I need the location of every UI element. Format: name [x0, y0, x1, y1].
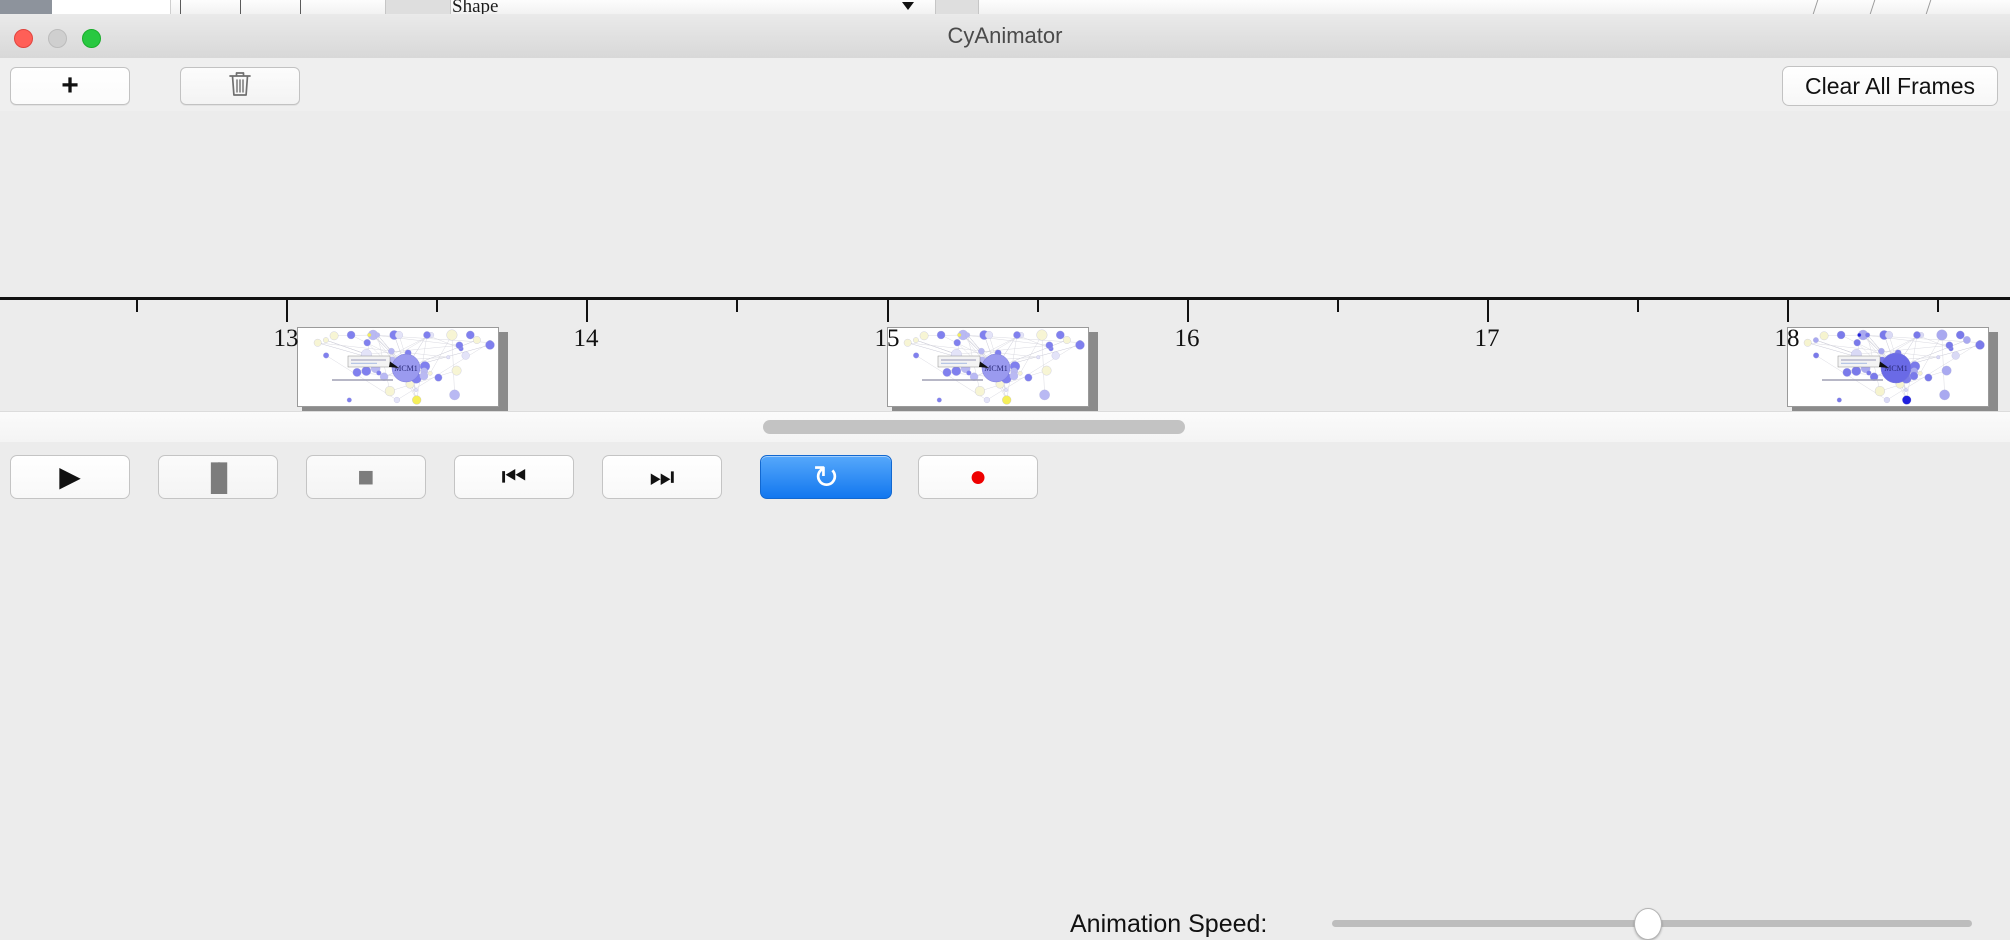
animation-speed-slider-thumb[interactable]: [1634, 908, 1662, 940]
background-label-shape: Shape: [452, 0, 498, 15]
animation-speed-label: Animation Speed:: [1070, 910, 1267, 939]
axis-tick-minor: [1037, 300, 1039, 312]
axis-tick-minor: [1937, 300, 1939, 312]
timeline-panel[interactable]: Seconds MCM1 MCM1 MCM1 12131415161718: [0, 111, 2010, 411]
loop-icon: ↻: [813, 461, 840, 493]
background-window-strip: Shape: [0, 0, 2010, 15]
axis-tick-minor: [1637, 300, 1639, 312]
frame-thumbnail-2[interactable]: MCM1: [887, 327, 1093, 411]
record-icon: ●: [969, 462, 987, 492]
loop-button[interactable]: ↻: [760, 455, 892, 499]
window-title: CyAnimator: [0, 14, 2010, 58]
timeline-axis: [0, 297, 2010, 300]
skip-to-end-button[interactable]: ⏭: [602, 455, 722, 499]
axis-tick-minor: [436, 300, 438, 312]
background-sidebar: [0, 0, 52, 14]
record-button[interactable]: ●: [918, 455, 1038, 499]
background-panel-1: [52, 0, 171, 14]
cyanimator-window: Shape CyAnimator + Clear All Frames: [0, 0, 2010, 510]
background-field-2: [935, 0, 979, 14]
skip-forward-icon: ⏭: [649, 463, 674, 491]
clear-all-frames-button[interactable]: Clear All Frames: [1782, 66, 1998, 106]
axis-tick-label: 16: [1175, 325, 1200, 353]
pause-icon: ▐▌: [202, 464, 235, 490]
background-divider-1: [180, 0, 181, 14]
background-divider-6: [1926, 0, 1932, 14]
frame-network-preview: MCM1: [1787, 327, 1989, 407]
frame-toolbar: + Clear All Frames: [0, 58, 2010, 112]
trash-icon: [227, 69, 253, 104]
timeline-scrollbar-thumb[interactable]: [763, 420, 1185, 434]
frame-thumbnail-1[interactable]: MCM1: [297, 327, 503, 411]
axis-tick-major: [586, 300, 588, 322]
play-icon: ▶: [59, 463, 81, 491]
axis-tick-label: 14: [574, 325, 599, 353]
axis-tick-minor: [1337, 300, 1339, 312]
plus-icon: +: [61, 71, 79, 101]
axis-tick-label: 13: [274, 325, 299, 353]
skip-backward-icon: ⏮: [501, 463, 526, 491]
background-divider-2: [240, 0, 241, 14]
background-caret-icon: [902, 2, 914, 10]
axis-tick-major: [887, 300, 889, 322]
pause-button[interactable]: ▐▌: [158, 455, 278, 499]
play-button[interactable]: ▶: [10, 455, 130, 499]
axis-tick-minor: [136, 300, 138, 312]
add-frame-button[interactable]: +: [10, 67, 130, 105]
axis-tick-major: [286, 300, 288, 322]
axis-tick-label: 18: [1775, 325, 1800, 353]
svg-text:MCM1: MCM1: [984, 364, 1008, 373]
background-divider-3: [300, 0, 301, 14]
frame-network-preview: MCM1: [297, 327, 499, 407]
axis-tick-label: 15: [875, 325, 900, 353]
stop-icon: ■: [358, 463, 375, 491]
axis-tick-major: [1487, 300, 1489, 322]
frame-thumbnail-3[interactable]: MCM1: [1787, 327, 1993, 411]
background-divider-5: [1870, 0, 1876, 14]
playback-control-bar: ▶▐▌■⏮⏭↻● Animation Speed:: [0, 442, 2010, 510]
background-field-1: [385, 0, 451, 14]
axis-tick-label: 17: [1475, 325, 1500, 353]
axis-tick-minor: [736, 300, 738, 312]
background-divider-4: [1813, 0, 1819, 14]
stop-button[interactable]: ■: [306, 455, 426, 499]
svg-text:MCM1: MCM1: [1884, 364, 1908, 373]
timeline-scrollbar[interactable]: [0, 411, 2010, 443]
frame-network-preview: MCM1: [887, 327, 1089, 407]
title-bar[interactable]: CyAnimator: [0, 14, 2010, 59]
axis-tick-major: [1787, 300, 1789, 322]
delete-frame-button[interactable]: [180, 67, 300, 105]
skip-to-start-button[interactable]: ⏮: [454, 455, 574, 499]
svg-text:MCM1: MCM1: [394, 364, 418, 373]
axis-tick-major: [1187, 300, 1189, 322]
